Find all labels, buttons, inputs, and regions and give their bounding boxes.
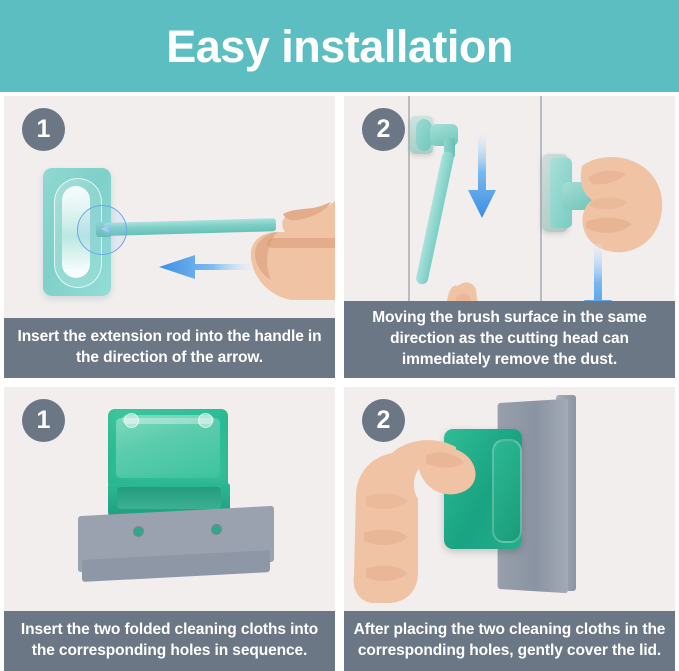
page-title: Easy installation: [166, 24, 513, 69]
hand-icon: [239, 192, 335, 300]
step-panel-4: 2 After placing the two cleaning cloths …: [344, 387, 675, 671]
header-banner: Easy installation: [0, 0, 679, 92]
cloth-hole-icon: [212, 525, 221, 534]
step-caption-2: Moving the brush surface in the same dir…: [344, 301, 675, 378]
insert-direction-arrow-icon: [101, 224, 125, 234]
hand-icon: [558, 148, 670, 260]
step-caption-4: After placing the two cleaning cloths in…: [344, 611, 675, 671]
hand-icon: [352, 423, 512, 603]
step-badge-3: 1: [22, 399, 65, 442]
cloth-hole-icon: [134, 527, 143, 536]
step-badge-1: 1: [22, 108, 65, 151]
step-panel-1: 1 Insert the extension rod into the hand…: [4, 96, 335, 378]
step-caption-1: Insert the extension rod into the handle…: [4, 318, 335, 378]
down-arrow-icon: [468, 134, 496, 218]
step-badge-4: 2: [362, 399, 405, 442]
case-base-cavity-icon: [117, 487, 221, 509]
open-case-lid-icon: [108, 409, 228, 487]
step-caption-3: Insert the two folded cleaning cloths in…: [4, 611, 335, 671]
brush-long-handle-icon: [415, 151, 455, 286]
step-badge-2: 2: [362, 108, 405, 151]
easy-installation-infographic: Easy installation: [0, 0, 679, 671]
case-lid-face-icon: [116, 418, 220, 478]
steps-grid: 1 Insert the extension rod into the hand…: [4, 96, 675, 671]
step-panel-2: 2 Moving the brush surface in the same d…: [344, 96, 675, 378]
step-panel-3: 1 Insert the two folded cleaning cloths …: [4, 387, 335, 671]
